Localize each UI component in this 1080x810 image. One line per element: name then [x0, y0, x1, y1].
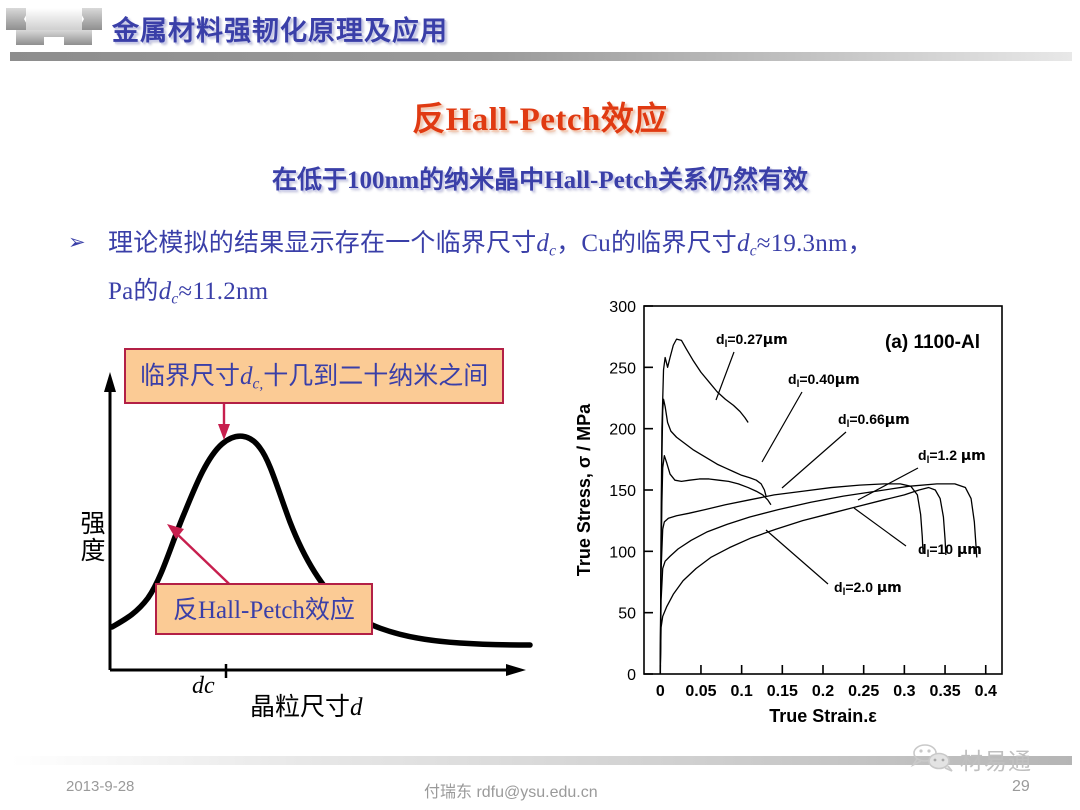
bullet-seg-5: ≈11.2nm	[178, 278, 268, 305]
svg-text:0.05: 0.05	[685, 683, 716, 700]
slide-header: 金属材料强韧化原理及应用	[0, 0, 1080, 68]
svg-text:150: 150	[609, 483, 636, 500]
left-figure-dc-tick-label: dc	[192, 673, 215, 700]
footer-page-number: 29	[1012, 778, 1030, 796]
left-figure-xlabel: 晶粒尺寸d	[250, 687, 363, 723]
svg-text:0.2: 0.2	[812, 683, 834, 700]
svg-text:200: 200	[609, 422, 636, 439]
svg-text:0.1: 0.1	[731, 683, 753, 700]
bullet-arrow-icon: ➢	[68, 230, 86, 254]
footer-author: 付瑞东 rdfu@ysu.edu.cn	[424, 778, 598, 802]
footer-date: 2013-9-28	[66, 778, 134, 795]
svg-text:250: 250	[609, 360, 636, 377]
callout-inverse-hall-petch: 反Hall-Petch效应	[155, 583, 373, 635]
svg-text:0.15: 0.15	[767, 683, 798, 700]
svg-text:0.3: 0.3	[893, 683, 915, 700]
bullet-seg-2: ，Cu的临界尺寸	[556, 230, 737, 257]
bullet-seg-1: 理论模拟的结果显示存在一个临界尺寸	[108, 230, 536, 257]
chat-bubble-icon	[910, 742, 958, 774]
header-title: 金属材料强韧化原理及应用	[112, 9, 448, 48]
left-xlabel-seg: 晶粒尺寸	[250, 694, 350, 721]
watermark: 材易通	[910, 742, 1070, 778]
left-xlabel-var: d	[350, 694, 363, 721]
page-subtitle: 在低于100nm的纳米晶中Hall-Petch关系仍然有效	[0, 160, 1080, 196]
svg-text:50: 50	[618, 606, 636, 623]
svg-text:True Stress, σ / MPa: True Stress, σ / MPa	[574, 403, 594, 576]
svg-text:0.25: 0.25	[848, 683, 879, 700]
bullet-seg-3: ≈19.3nm，	[757, 230, 873, 257]
bullet-var-dc-3: d	[159, 278, 172, 305]
svg-text:0.35: 0.35	[929, 683, 960, 700]
callout-critical-size: 临界尺寸dc,十几到二十纳米之间	[124, 348, 504, 404]
callout-dc-seg-2: 十几到二十纳米之间	[263, 363, 488, 390]
bullet-seg-4: Pa的	[108, 278, 159, 305]
left-figure-ylabel: 强度	[72, 510, 108, 564]
true-stress-strain-chart: 05010015020025030000.050.10.150.20.250.3…	[566, 292, 1016, 722]
svg-text:0.4: 0.4	[975, 683, 997, 700]
ribbon-banner-icon	[6, 6, 102, 48]
svg-text:True Strain,ε: True Strain,ε	[769, 706, 877, 722]
bullet-var-dc-2-sub: c	[750, 243, 757, 260]
callout-dc-var-sub: c,	[253, 376, 264, 393]
header-divider	[10, 52, 1072, 61]
page-title: 反Hall-Petch效应	[0, 92, 1080, 140]
callout-dc-seg-1: 临界尺寸	[140, 363, 240, 390]
svg-text:100: 100	[609, 544, 636, 561]
callout-dc-var: d	[240, 363, 253, 390]
svg-text:300: 300	[609, 299, 636, 316]
svg-text:0: 0	[656, 683, 665, 700]
svg-text:0: 0	[627, 667, 636, 684]
bullet-var-dc-2: d	[737, 230, 750, 257]
watermark-text: 材易通	[960, 742, 1032, 776]
svg-text:(a) 1100-Al: (a) 1100-Al	[885, 332, 980, 353]
bullet-var-dc-1: d	[536, 230, 549, 257]
